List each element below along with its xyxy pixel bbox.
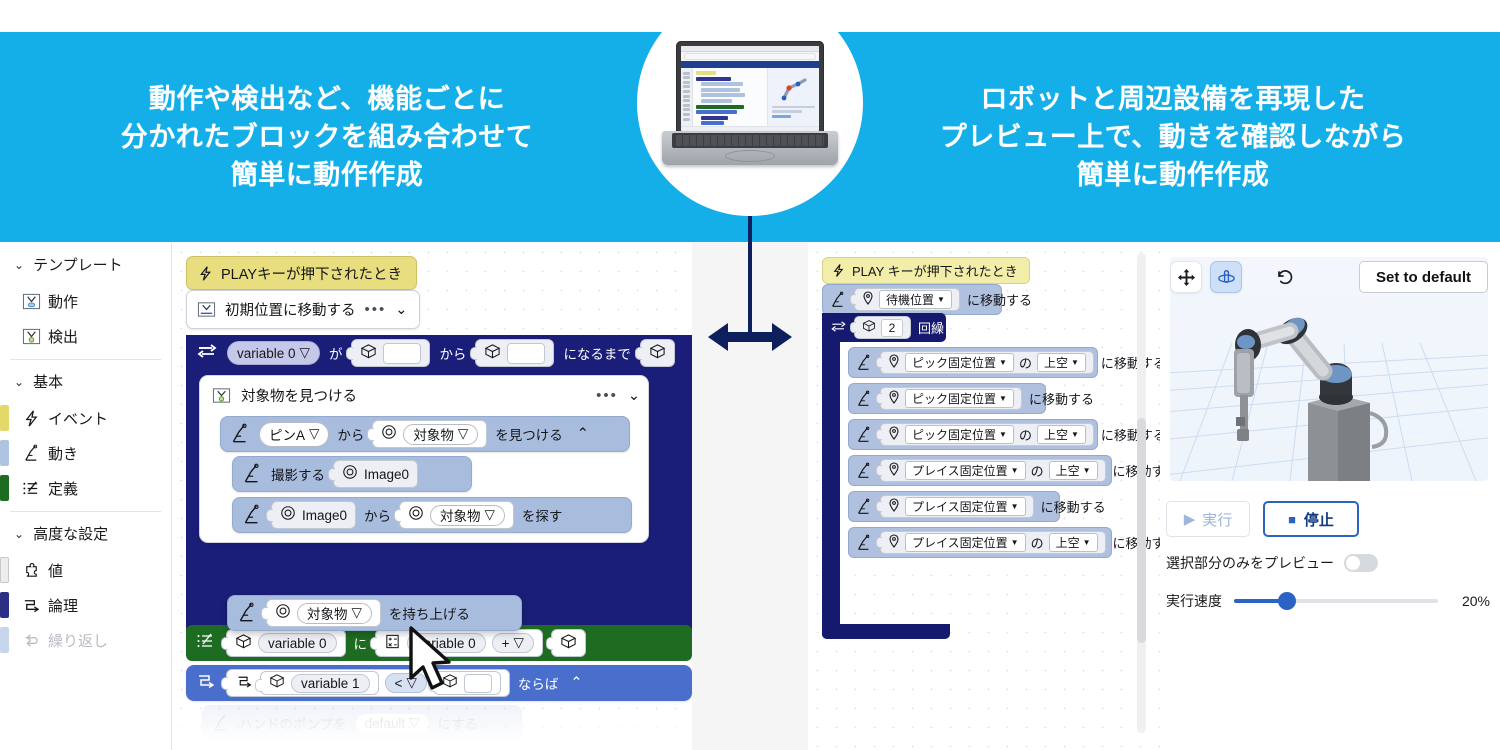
math-operator-dropdown[interactable]: + ▽ [492,633,534,653]
group-header-row[interactable]: 対象物を見つける ••• ⌄ [212,385,640,406]
chevron-down-icon: ▼ [1011,466,1019,475]
cube-icon [235,633,252,654]
loop-foot [822,624,950,639]
palette-group-template: ⌄ テンプレート 動作 [0,243,171,354]
robot-arm-icon [211,713,231,733]
place-socket[interactable]: プレイス固定位置 ▼ の 上空 ▼ [880,459,1106,482]
cube-icon [560,633,577,654]
height-dropdown[interactable]: 上空 ▼ [1049,533,1098,552]
speed-value: 20% [1450,593,1490,609]
chevron-down-icon: ▽ [513,635,523,651]
color-swatch [0,627,9,653]
target-icon [408,505,424,525]
search-image-value: Image0 [302,508,347,523]
block-mid: の [1019,425,1032,444]
preview-toolbar[interactable]: Set to default [1170,261,1488,293]
find-text-2: を見つける [495,424,563,444]
block-loop-container[interactable] [822,313,840,639]
chevron-up-icon[interactable]: ⌃ [577,426,589,442]
block-suffix: に移動する [967,290,1032,309]
location-pin-icon [888,390,900,407]
chevron-down-icon: ⌄ [14,527,24,541]
chevron-down-icon: ▼ [999,430,1007,439]
search-text-1: から [364,505,391,525]
sidebar-item-label: 検出 [48,326,78,347]
dropdown-value: 上空 [1044,354,1068,371]
sidebar-item-motion-template[interactable]: 動作 [0,284,171,319]
speed-label: 実行速度 [1166,591,1222,611]
block-editor-panel: ⌄ テンプレート 動作 [0,243,692,750]
sidebar-fade [0,704,171,750]
place-dropdown[interactable]: 待機位置 ▼ [879,290,952,309]
run-label: 実行 [1202,509,1232,530]
place-dropdown[interactable]: ピック固定位置 ▼ [905,425,1014,444]
pick-target-dropdown[interactable]: 対象物 ▽ [297,603,372,624]
block-suffix: に移動する [1041,497,1106,516]
definition-icon [194,631,218,655]
block-move-pick[interactable]: ピック固定位置 ▼ に移動する [848,383,1046,414]
color-swatch [0,440,9,466]
robot-arm-icon [855,498,873,516]
more-options-icon[interactable]: ••• [596,387,618,404]
laptop-illustration [662,41,838,165]
set-var-socket[interactable]: variable 0 [226,629,346,657]
place-dropdown[interactable]: プレイス固定位置 ▼ [905,533,1026,552]
chevron-down-icon[interactable]: ⌄ [628,388,640,404]
chevron-down-icon: ▼ [1071,430,1079,439]
color-swatch [0,475,9,501]
color-swatch [0,405,9,431]
dropdown-value: プレイス固定位置 [912,498,1008,515]
place-dropdown[interactable]: プレイス固定位置 ▼ [905,461,1026,480]
color-swatch [0,557,9,583]
robot-arm-icon [241,463,263,485]
block-move-pick-above-2[interactable]: ピック固定位置 ▼ の 上空 ▼ に移動する [848,419,1098,450]
chevron-down-icon: ▼ [1083,466,1091,475]
stop-square-icon: ■ [1288,512,1296,527]
loop-arrows-icon [196,342,218,364]
pump-text-2: にする [438,713,479,733]
location-pin-icon [888,462,900,479]
vertical-scrollbar[interactable] [1137,253,1146,733]
chevron-down-icon: ▼ [1083,538,1091,547]
block-hand-pump[interactable]: ハンドのポンプを default ▽ にする [202,705,522,741]
dropdown-value: ピック固定位置 [912,354,996,371]
sidebar-item-definition[interactable]: 定義 [0,471,171,506]
cube-icon [269,673,285,693]
cube-icon [484,343,501,364]
sidebar-item-loop[interactable]: 繰り返し [0,623,171,658]
if-value[interactable]: 4 [464,674,492,693]
block-loop-header[interactable]: variable 0 ▽ が 0 から 3 になるまで [186,335,692,371]
chevron-down-icon: ▼ [1011,502,1019,511]
block-label: 初期位置に移動する [225,299,356,320]
sidebar-item-label: 論理 [48,595,78,616]
set-to-default-button[interactable]: Set to default [1359,261,1488,293]
sidebar-item-logic[interactable]: 論理 [0,588,171,623]
laptop-screen [681,46,819,131]
undo-arrow-icon[interactable] [1268,261,1300,293]
if-condition-socket[interactable]: variable 1 < ▽ 4 [226,669,510,697]
target-icon [275,603,291,623]
loop-variable-dropdown[interactable]: variable 0 ▽ [227,341,320,365]
block-play-key-hat[interactable]: PLAY キーが押下されたとき [822,257,1030,284]
sidebar-item-event[interactable]: イベント [0,401,171,436]
block-label: PLAYキーが押下されたとき [221,263,402,284]
dropdown-value: 上空 [1044,426,1068,443]
target-icon [381,424,397,444]
chevron-down-icon: ⌄ [14,375,24,389]
target-icon [280,505,296,525]
target-socket[interactable]: 対象物 ▽ [372,420,487,448]
banner-left-text: 動作や検出など、機能ごとに 分かれたブロックを組み合わせて 簡単に動作作成 [121,80,534,195]
set-var-value[interactable]: variable 0 [258,633,337,653]
dropdown-value: 対象物 [440,505,481,525]
group-label: 対象物を見つける [241,385,357,406]
sidebar-item-label: 定義 [48,478,78,499]
banner-right-text: ロボットと周辺設備を再現した プレビュー上で、動きを確認しながら 簡単に動作作成 [940,80,1406,195]
set-text-1: に [354,633,368,653]
block-capture-image[interactable]: 撮影する Image0 [232,456,472,492]
sidebar-item-label: 繰り返し [48,630,108,651]
stop-label: 停止 [1304,509,1334,530]
preview-column: Set to default ▶ 実行 ■ 停止 選択部分のみをプレビュー [1160,243,1500,750]
place-socket[interactable]: ピック固定位置 ▼ [880,387,1022,410]
robot-arm-icon [855,390,873,408]
block-move-place-above-1[interactable]: プレイス固定位置 ▼ の 上空 ▼ に移動する [848,455,1112,486]
detect-template-icon [22,327,41,346]
dropdown-value: 上空 [1056,462,1080,479]
search-target-socket[interactable]: 対象物 ▽ [399,501,514,529]
preview-panel: PLAY キーが押下されたとき 待機位置 ▼ に移動する [808,243,1500,750]
block-move-initial-position[interactable]: 初期位置に移動する ••• ⌄ [186,290,420,329]
dropdown-value: ピンA [269,424,305,444]
place-socket[interactable]: ピック固定位置 ▼ の 上空 ▼ [880,423,1094,446]
place-dropdown[interactable]: ピック固定位置 ▼ [905,389,1014,408]
chevron-up-icon[interactable]: ⌃ [570,675,582,691]
chevron-down-icon: ▽ [485,507,495,523]
chevron-down-icon: ▼ [1011,538,1019,547]
robot-arm-icon [855,462,873,480]
loop-count-value[interactable]: 2 [881,319,903,337]
if-var-socket[interactable]: variable 1 [260,671,379,695]
chevron-down-icon: ▼ [999,394,1007,403]
find-text-1: から [337,424,364,444]
preview-selection-toggle[interactable] [1344,554,1378,572]
loop-to-socket[interactable]: 3 [475,339,554,367]
more-options-icon[interactable]: ••• [365,301,387,318]
sidebar-item-label: 値 [48,560,63,581]
event-bolt-icon [831,263,846,278]
pick-text-1: を持ち上げる [389,603,470,623]
laptop-base [662,131,838,165]
sidebar-item-value[interactable]: 値 [0,553,171,588]
chevron-down-icon: ⌄ [14,258,24,272]
block-suffix: に移動する [1101,353,1160,372]
sidebar-item-label: 動き [48,443,78,464]
run-stop-row: ▶ 実行 ■ 停止 [1166,501,1490,537]
logic-icon [194,671,218,695]
block-mid: の [1019,353,1032,372]
place-socket[interactable]: プレイス固定位置 ▼ [880,495,1034,518]
detect-template-icon [197,300,216,319]
robot-arm-icon [855,534,873,552]
chevron-down-icon: ▽ [458,426,468,442]
target-icon [342,464,358,484]
location-pin-icon [888,426,900,443]
palette-group-header[interactable]: ⌄ 基本 [0,360,171,401]
location-pin-icon [888,498,900,515]
block-find-target[interactable]: ピンA ▽ から 対象物 ▽ を見つける ⌃ [220,416,630,452]
block-palette-sidebar[interactable]: ⌄ テンプレート 動作 [0,243,172,750]
sidebar-item-label: イベント [48,408,108,429]
speed-row: 実行速度 20% [1166,591,1490,611]
dropdown-value: 待機位置 [886,291,934,308]
pick-target-socket[interactable]: 対象物 ▽ [266,599,381,627]
dropdown-value: < [395,676,403,691]
pump-dropdown[interactable]: default ▽ [355,713,430,734]
palette-group-header[interactable]: ⌄ 高度な設定 [0,512,171,553]
left-block-canvas[interactable]: PLAYキーが押下されたとき 初期位置に移動する ••• ⌄ [172,243,692,750]
banner-right: ロボットと周辺設備を再現した プレビュー上で、動きを確認しながら 簡単に動作作成 [750,32,1500,242]
block-loop-header[interactable]: 2 回繰り返す [822,313,946,342]
block-move-place[interactable]: プレイス固定位置 ▼ に移動する [848,491,1060,522]
robot-arm-icon [229,423,251,445]
dropdown-value: プレイス固定位置 [912,534,1008,551]
palette-group-label: 高度な設定 [33,523,108,544]
if-var-value[interactable]: variable 1 [291,674,370,693]
block-play-key-hat[interactable]: PLAYキーが押下されたとき [186,256,417,290]
connector-line [748,205,752,335]
right-block-canvas[interactable]: PLAY キーが押下されたとき 待機位置 ▼ に移動する [808,243,1160,750]
loop-from-socket[interactable]: 0 [351,339,430,367]
stop-button[interactable]: ■ 停止 [1263,501,1359,537]
robot-arm-icon [241,504,263,526]
palette-group-header[interactable]: ⌄ テンプレート [0,243,171,284]
search-image-socket[interactable]: Image0 [271,501,356,529]
robot-arm-icon [855,354,873,372]
loop-step-socket[interactable] [640,339,675,367]
loop-text-3: になるまで [563,343,631,363]
block-mid: の [1031,533,1044,552]
logic-icon [22,596,41,615]
chevron-down-icon[interactable]: ⌄ [395,302,407,318]
toggle-label: 選択部分のみをプレビュー [1166,553,1334,573]
loop-icon [22,631,41,650]
dropdown-value: 対象物 [307,603,348,623]
chevron-down-icon: ▽ [352,605,362,621]
speed-slider[interactable] [1234,599,1438,603]
pump-text-1: ハンドのポンプを [239,713,347,733]
chevron-down-icon: ▽ [309,426,319,442]
dropdown-value: 上空 [1056,534,1080,551]
move-arrows-icon[interactable] [1170,261,1202,293]
run-button[interactable]: ▶ 実行 [1166,501,1250,537]
place-socket[interactable]: ピック固定位置 ▼ の 上空 ▼ [880,351,1094,374]
dropdown-value: variable 0 [237,346,296,361]
event-bolt-icon [22,409,41,428]
sidebar-item-motion[interactable]: 動き [0,436,171,471]
chevron-down-icon: ▼ [1071,358,1079,367]
search-target-dropdown[interactable]: 対象物 ▽ [430,505,505,526]
cube-icon [649,343,666,364]
motion-template-icon [22,292,41,311]
loop-from-value[interactable]: 0 [383,343,421,364]
height-dropdown[interactable]: 上空 ▼ [1037,425,1086,444]
palette-group-advanced: ⌄ 高度な設定 値 論理 [0,512,171,658]
place-socket[interactable]: 待機位置 ▼ [854,288,960,311]
dropdown-value: ピック固定位置 [912,390,996,407]
chevron-down-icon: ▼ [999,358,1007,367]
location-pin-icon [862,291,874,308]
capture-image-socket[interactable]: Image0 [333,460,418,488]
preview-selection-toggle-row[interactable]: 選択部分のみをプレビュー [1166,553,1490,573]
capture-text-1: 撮影する [271,464,325,484]
block-move-place-above-2[interactable]: プレイス固定位置 ▼ の 上空 ▼ に移動する [848,527,1112,558]
robot-arm-icon [829,291,847,309]
height-dropdown[interactable]: 上空 ▼ [1037,353,1086,372]
definition-icon [22,479,41,498]
palette-group-label: テンプレート [33,254,123,275]
value-puzzle-icon [22,561,41,580]
robot-arm-icon [236,602,258,624]
block-label: PLAY キーが押下されたとき [852,261,1018,280]
loop-text-1: が [329,343,343,363]
chevron-down-icon: ▽ [409,715,419,731]
dropdown-value: ピック固定位置 [912,426,996,443]
block-mid: の [1031,461,1044,480]
sidebar-item-detect-template[interactable]: 検出 [0,319,171,354]
double-arrow-icon [706,318,794,356]
block-pick-up-target[interactable]: 対象物 ▽ を持ち上げる [227,595,522,631]
palette-group-label: 基本 [33,371,63,392]
orbit-rotate-icon[interactable] [1210,261,1242,293]
palette-group-basic: ⌄ 基本 イベント 動き [0,360,171,506]
dropdown-value: + [502,636,510,651]
math-operand-socket[interactable] [551,629,586,657]
mouse-cursor [407,626,459,696]
block-suffix: に移動する [1029,389,1094,408]
target-dropdown[interactable]: 対象物 ▽ [403,424,478,445]
capture-image-value: Image0 [364,467,409,482]
block-group-find-target[interactable]: 対象物を見つける ••• ⌄ ピンA ▽ から [199,375,649,543]
place-dropdown[interactable]: ピック固定位置 ▼ [905,353,1014,372]
event-bolt-icon [197,265,214,282]
pin-dropdown[interactable]: ピンA ▽ [259,422,329,447]
place-socket[interactable]: プレイス固定位置 ▼ の 上空 ▼ [880,531,1106,554]
height-dropdown[interactable]: 上空 ▼ [1049,461,1098,480]
robot-arm-icon [22,444,41,463]
loop-arrows-icon [830,319,847,337]
play-triangle-icon: ▶ [1184,510,1196,528]
laptop-lid [676,41,824,135]
sidebar-item-label: 動作 [48,291,78,312]
robot-arm-icon [855,426,873,444]
loop-text-2: から [439,343,466,363]
scrollbar-thumb[interactable] [1137,418,1146,643]
loop-to-value[interactable]: 3 [507,343,545,364]
block-suffix: に移動する [1101,425,1160,444]
detect-template-icon [212,386,231,405]
banner-left: 動作や検出など、機能ごとに 分かれたブロックを組み合わせて 簡単に動作作成 [0,32,750,242]
block-move-pick-above-1[interactable]: ピック固定位置 ▼ の 上空 ▼ に移動する [848,347,1098,378]
logic-icon [235,673,254,694]
block-search-target[interactable]: Image0 から 対象物 ▽ を探す [232,497,632,533]
cube-icon [360,343,377,364]
if-text-1: ならば [518,673,559,693]
calculator-icon [384,633,401,654]
chevron-down-icon: ▽ [300,345,310,361]
location-pin-icon [888,534,900,551]
preview-controls: ▶ 実行 ■ 停止 選択部分のみをプレビュー 実行速度 [1166,501,1490,611]
cube-icon [862,319,876,336]
chevron-down-icon: ▼ [937,295,945,304]
dropdown-value: default [365,716,406,731]
block-move-standby[interactable]: 待機位置 ▼ に移動する [822,284,1002,315]
place-dropdown[interactable]: プレイス固定位置 ▼ [905,497,1026,516]
loop-suffix: 回繰り返す [918,318,983,337]
search-text-2: を探す [522,505,563,525]
dropdown-value: プレイス固定位置 [912,462,1008,479]
location-pin-icon [888,354,900,371]
color-swatch [0,592,9,618]
laptop-circle-badge [637,0,863,216]
dropdown-value: 対象物 [413,424,454,444]
loop-count-socket[interactable]: 2 [854,316,911,339]
